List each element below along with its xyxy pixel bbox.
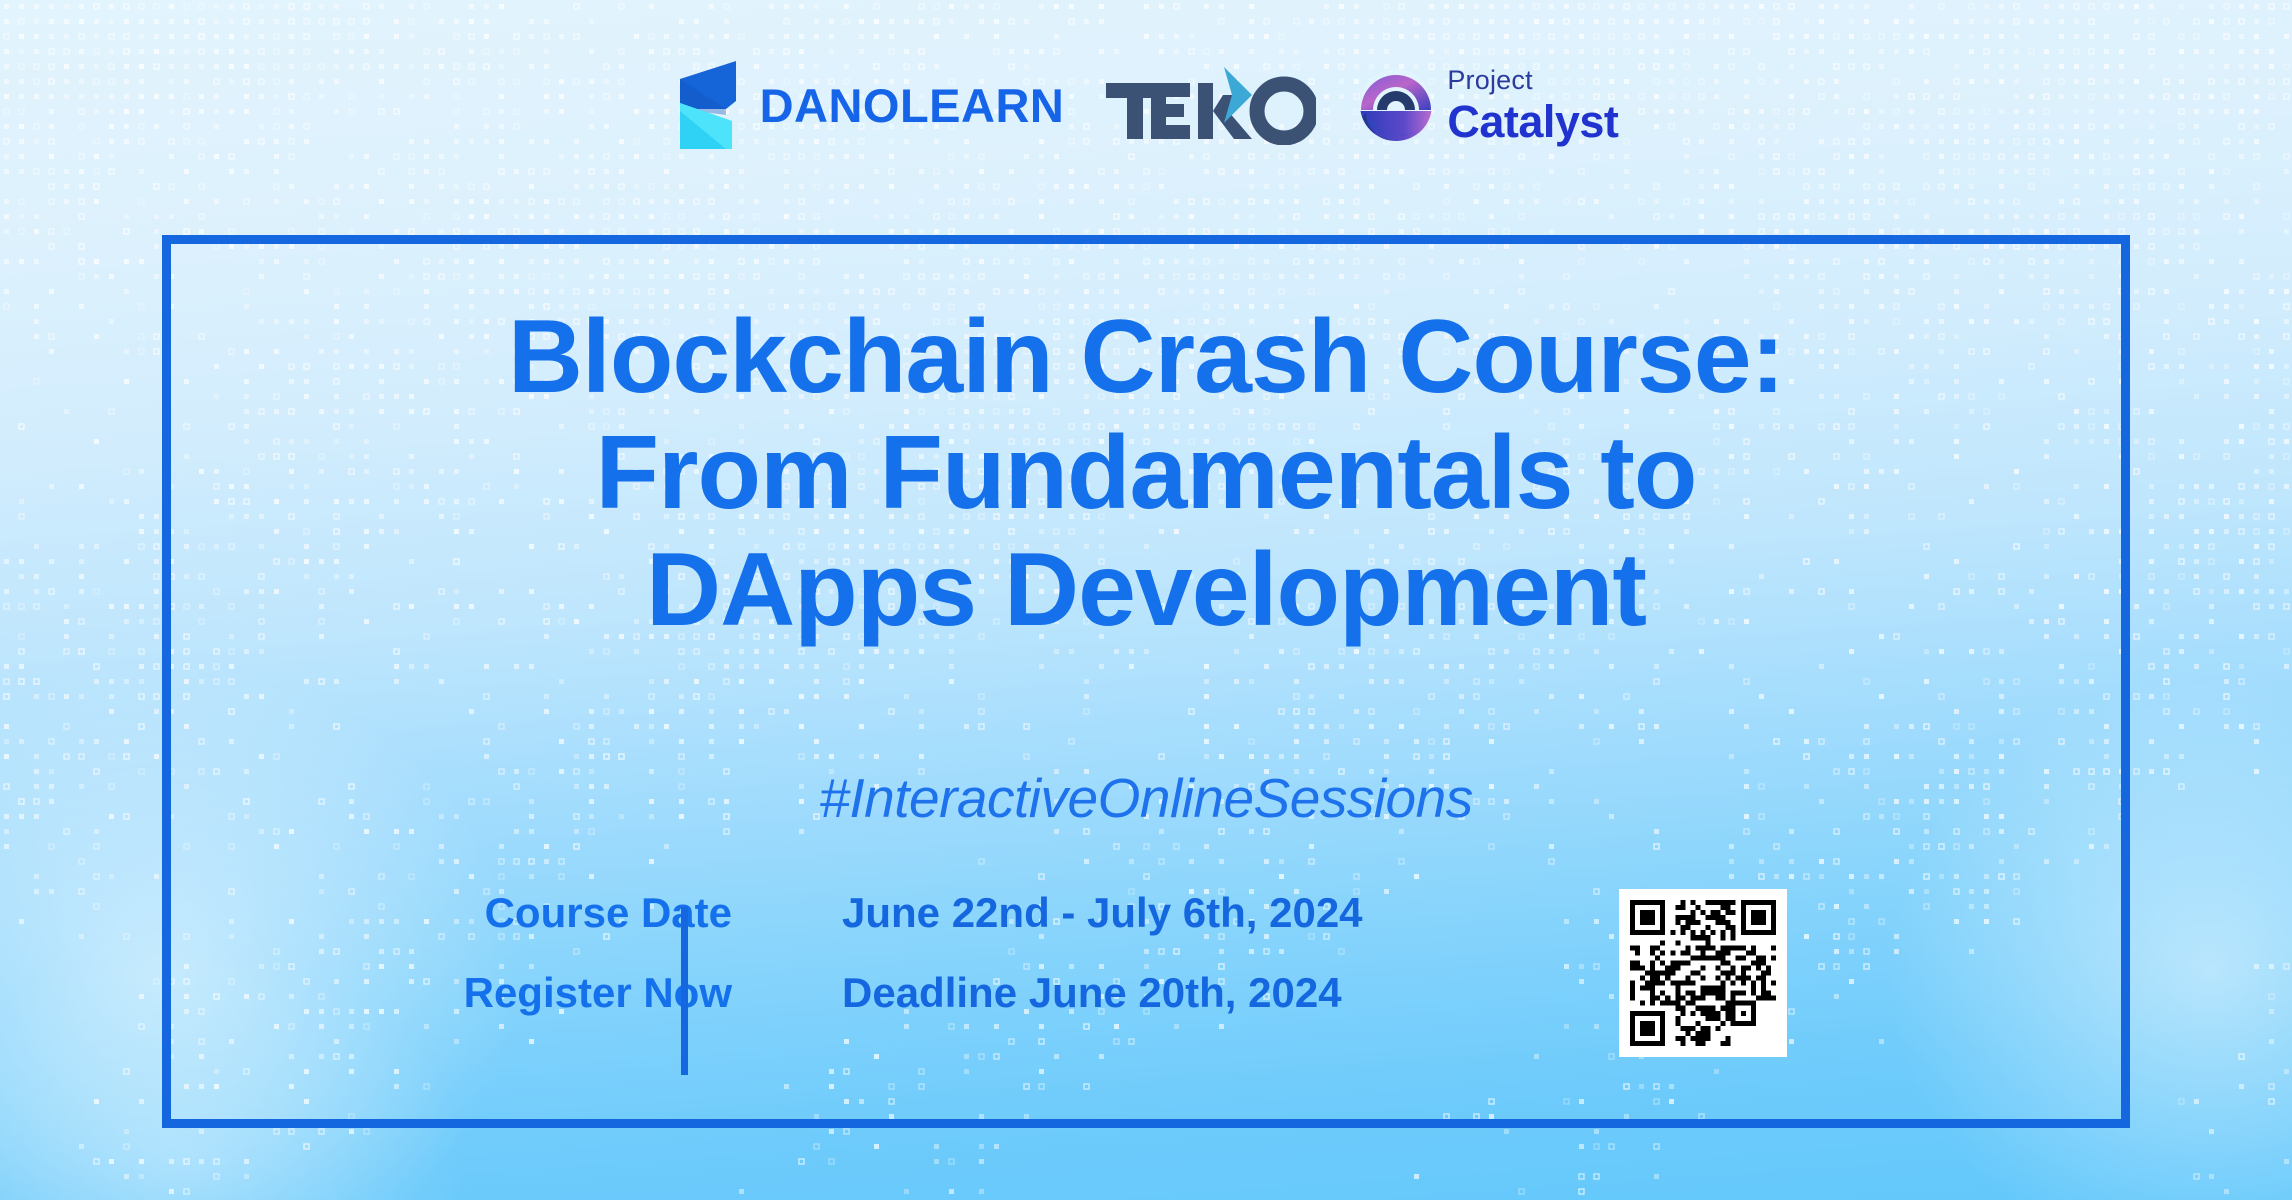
title-line-3: DApps Development <box>171 532 2121 648</box>
catalyst-name-line: Catalyst <box>1447 99 1618 144</box>
title-line-2: From Fundamentals to <box>171 415 2121 531</box>
detail-label-course-date: Course Date <box>426 889 776 937</box>
registration-qr-code[interactable] <box>1619 889 1787 1057</box>
details-table: Course Date June 22nd - July 6th, 2024 R… <box>426 889 1363 1017</box>
title-line-1: Blockchain Crash Course: <box>171 299 2121 415</box>
project-catalyst-logo-mark <box>1358 67 1434 143</box>
detail-label-register-now: Register Now <box>426 969 776 1017</box>
detail-value-course-date: June 22nd - July 6th, 2024 <box>804 889 1363 937</box>
details-divider-cell <box>776 889 804 937</box>
teko-logo-mark <box>1106 65 1316 145</box>
danolearn-logo-mark <box>674 59 746 151</box>
teko-logo <box>1106 65 1316 145</box>
event-poster: DANOLEARN <box>0 0 2292 1200</box>
details-divider-cell-2 <box>776 969 804 1017</box>
danolearn-wordmark: DANOLEARN <box>760 82 1065 129</box>
details-vertical-divider <box>681 907 688 1075</box>
project-catalyst-wordmark: Project Catalyst <box>1447 67 1618 144</box>
project-catalyst-logo: Project Catalyst <box>1358 67 1618 144</box>
danolearn-logo: DANOLEARN <box>674 59 1065 151</box>
detail-value-register-now: Deadline June 20th, 2024 <box>804 969 1363 1017</box>
qr-code-graphic <box>1630 900 1776 1046</box>
course-title: Blockchain Crash Course: From Fundamenta… <box>171 299 2121 648</box>
content-frame: Blockchain Crash Course: From Fundamenta… <box>162 235 2130 1128</box>
course-details: Course Date June 22nd - July 6th, 2024 R… <box>426 889 1363 1017</box>
hashtag-subtitle: #InteractiveOnlineSessions <box>171 766 2121 830</box>
partner-logo-row: DANOLEARN <box>0 55 2292 155</box>
catalyst-project-line: Project <box>1447 67 1618 94</box>
